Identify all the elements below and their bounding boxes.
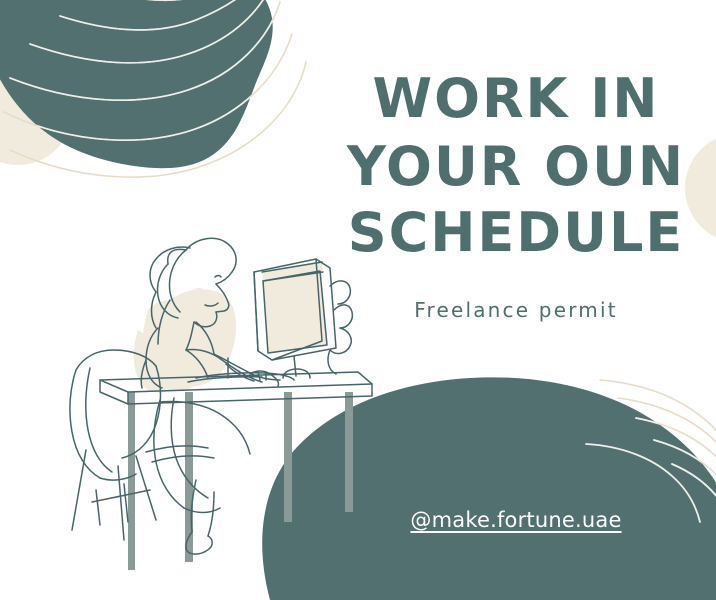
woman — [141, 238, 280, 554]
illustration-linework — [70, 238, 372, 554]
poster-canvas: WORK IN YOUR OUN SCHEDULE Freelance perm… — [0, 0, 716, 600]
instagram-handle[interactable]: @make.fortune.uae — [320, 508, 712, 532]
cheek-blush — [194, 288, 204, 298]
